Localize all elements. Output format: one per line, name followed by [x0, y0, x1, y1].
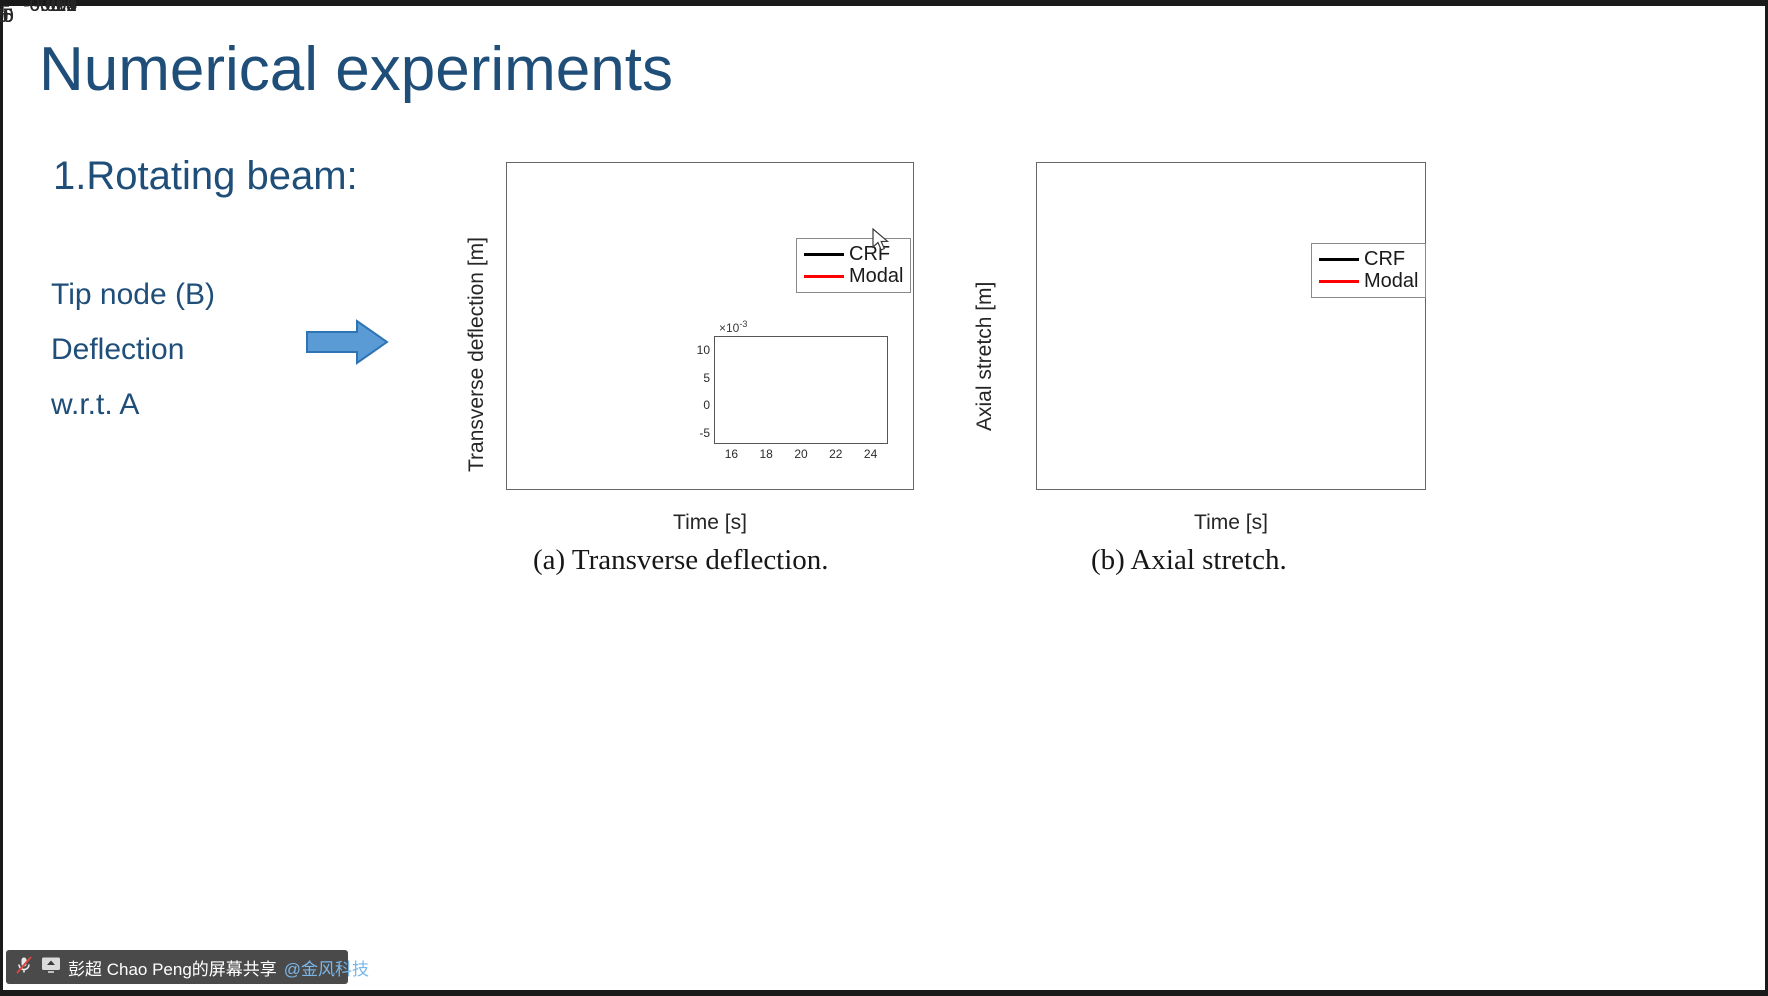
chart-a-inset-exponent: ×10-3: [719, 319, 747, 335]
chart-a-caption: (a) Transverse deflection.: [533, 544, 829, 577]
legend-item-modal: Modal: [1319, 270, 1418, 292]
inset-x-tick-label: 20: [794, 447, 807, 461]
legend-line-crf: [1319, 258, 1359, 261]
section-subtitle: 1.Rotating beam:: [53, 154, 358, 199]
legend-item-modal: Modal: [804, 265, 903, 287]
screen-share-icon[interactable]: [41, 956, 61, 979]
legend-label-modal: Modal: [1364, 271, 1418, 291]
inset-y-tick-label: 0: [686, 398, 710, 412]
inset-x-tick-label: 16: [725, 447, 738, 461]
inset-y-tick-label: 10: [686, 343, 710, 357]
chart-a-x-axis-label: Time [s]: [506, 511, 914, 535]
right-arrow-icon: [305, 318, 389, 366]
page-title: Numerical experiments: [39, 34, 673, 105]
inset-x-tick-label: 18: [760, 447, 773, 461]
chart-b-x-axis-label: Time [s]: [1036, 511, 1426, 535]
screen-share-taskbar[interactable]: 彭超 Chao Peng的屏幕共享 @金风科技: [6, 950, 348, 984]
presentation-slide: Numerical experiments 1.Rotating beam: T…: [0, 0, 1768, 996]
legend-label-modal: Modal: [849, 266, 903, 286]
chart-a-y-axis-label: Transverse deflection [m]: [465, 237, 489, 472]
chart-b-plot-area: [1036, 162, 1426, 490]
legend-line-modal: [1319, 280, 1359, 283]
inset-x-tick-label: 22: [829, 447, 842, 461]
x-tick-label: 25: [0, 6, 14, 28]
legend-line-crf: [804, 253, 844, 256]
bullet-deflection: Deflection: [51, 333, 184, 367]
legend-label-crf: CRF: [1364, 249, 1405, 269]
chart-b-caption: (b) Axial stretch.: [1091, 544, 1287, 577]
y-tick-label: -0.025: [3, 0, 77, 17]
inset-y-tick-label: -5: [686, 426, 710, 440]
mouse-pointer-icon: [872, 228, 892, 254]
bullet-wrt-a: w.r.t. A: [51, 388, 139, 422]
legend-line-modal: [804, 275, 844, 278]
chart-b-y-axis-label: Axial stretch [m]: [973, 282, 997, 431]
microphone-muted-icon[interactable]: [14, 955, 34, 980]
share-owner-text: 彭超 Chao Peng的屏幕共享: [68, 955, 277, 980]
chart-a-legend: CRF Modal: [796, 238, 911, 293]
chart-a-inset-plot: [714, 336, 888, 444]
chart-b-legend: CRF Modal: [1311, 243, 1426, 298]
legend-item-crf: CRF: [1319, 248, 1418, 270]
share-org-text: @金风科技: [284, 955, 369, 980]
inset-y-tick-label: 5: [686, 371, 710, 385]
bullet-tip-node: Tip node (B): [51, 278, 215, 312]
inset-x-tick-label: 24: [864, 447, 877, 461]
